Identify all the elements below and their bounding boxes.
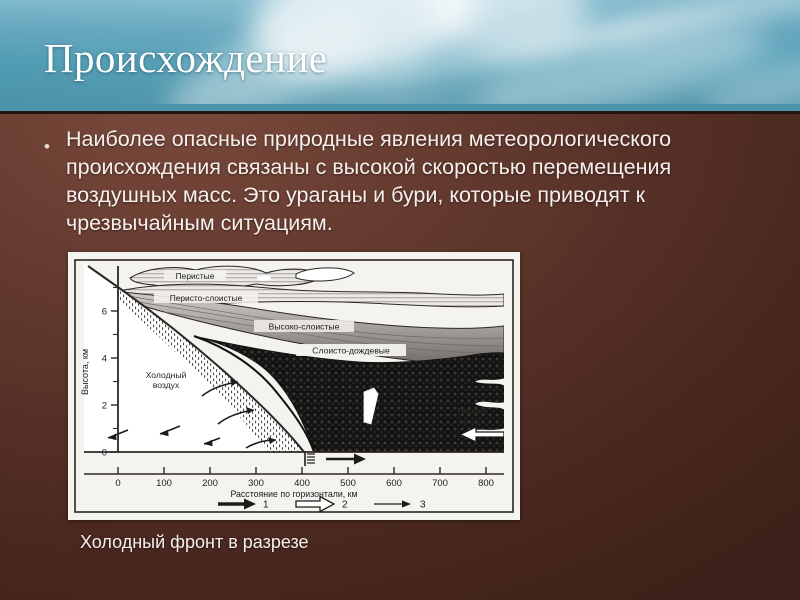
x-tick-500: 500 xyxy=(340,478,356,489)
y-tick-4: 4 xyxy=(102,354,107,365)
label-cirrostratus: Перисто-слоистые xyxy=(154,292,258,303)
label-cirrus: Перистые xyxy=(164,270,226,281)
x-tick-700: 700 xyxy=(432,478,448,489)
nimbostratus-label-text: Слоисто-дождевые xyxy=(312,346,390,356)
cold-air-label-text: Холодный xyxy=(146,370,187,380)
page-title: Происхождение xyxy=(44,38,327,79)
cold-front-cross-section-chart: Перистые Перисто-слоистые Высоко-слоисты… xyxy=(68,252,520,520)
header-divider-line xyxy=(0,111,800,114)
header-photo-highlight-icon xyxy=(466,10,773,110)
body-content: • Наиболее опасные природные явления мет… xyxy=(44,126,734,238)
x-tick-400: 400 xyxy=(294,478,310,489)
x-tick-600: 600 xyxy=(386,478,402,489)
warm-air-label-text-2: воздух xyxy=(459,416,486,426)
cold-air-label-text-2: воздух xyxy=(153,380,180,390)
x-tick-300: 300 xyxy=(248,478,264,489)
header-accent-band xyxy=(0,104,800,111)
bullet-paragraph: Наиболее опасные природные явления метео… xyxy=(66,126,734,238)
header-photo-shadow-icon xyxy=(596,0,800,75)
y-tick-2: 2 xyxy=(102,401,107,412)
label-warm-air: Теплый воздух xyxy=(457,406,487,426)
x-tick-800: 800 xyxy=(478,478,494,489)
legend-label-2: 2 xyxy=(342,500,348,511)
figure-caption: Холодный фронт в разрезе xyxy=(80,532,320,554)
presentation-slide: Происхождение • Наиболее опасные природн… xyxy=(0,0,800,600)
header-photo-streak-icon xyxy=(303,0,800,105)
warm-air-label-text: Теплый xyxy=(457,406,487,416)
cirrus-label-text: Перистые xyxy=(176,271,215,281)
header-photo-highlight-icon xyxy=(430,0,590,56)
x-tick-200: 200 xyxy=(202,478,218,489)
bullet-marker-icon: • xyxy=(44,126,66,155)
y-axis-title: Высота, км xyxy=(80,349,90,395)
x-tick-100: 100 xyxy=(156,478,172,489)
slide-header: Происхождение xyxy=(0,0,800,110)
x-tick-0: 0 xyxy=(115,478,120,489)
x-axis-title: Расстояние по горизонтали, км xyxy=(230,489,357,499)
cold-front-diagram-image: Перистые Перисто-слоистые Высоко-слоисты… xyxy=(68,252,520,520)
y-tick-0: 0 xyxy=(102,448,107,459)
altostratus-label-text: Высоко-слоистые xyxy=(269,322,340,332)
legend-label-1: 1 xyxy=(263,500,269,511)
legend-label-3: 3 xyxy=(420,500,426,511)
list-item: • Наиболее опасные природные явления мет… xyxy=(44,126,734,238)
y-tick-6: 6 xyxy=(102,307,107,318)
label-nimbostratus: Слоисто-дождевые xyxy=(296,344,406,356)
header-photo-highlight-icon xyxy=(696,41,800,110)
label-altostratus: Высоко-слоистые xyxy=(254,320,354,332)
cirrostratus-label-text: Перисто-слоистые xyxy=(170,293,243,303)
